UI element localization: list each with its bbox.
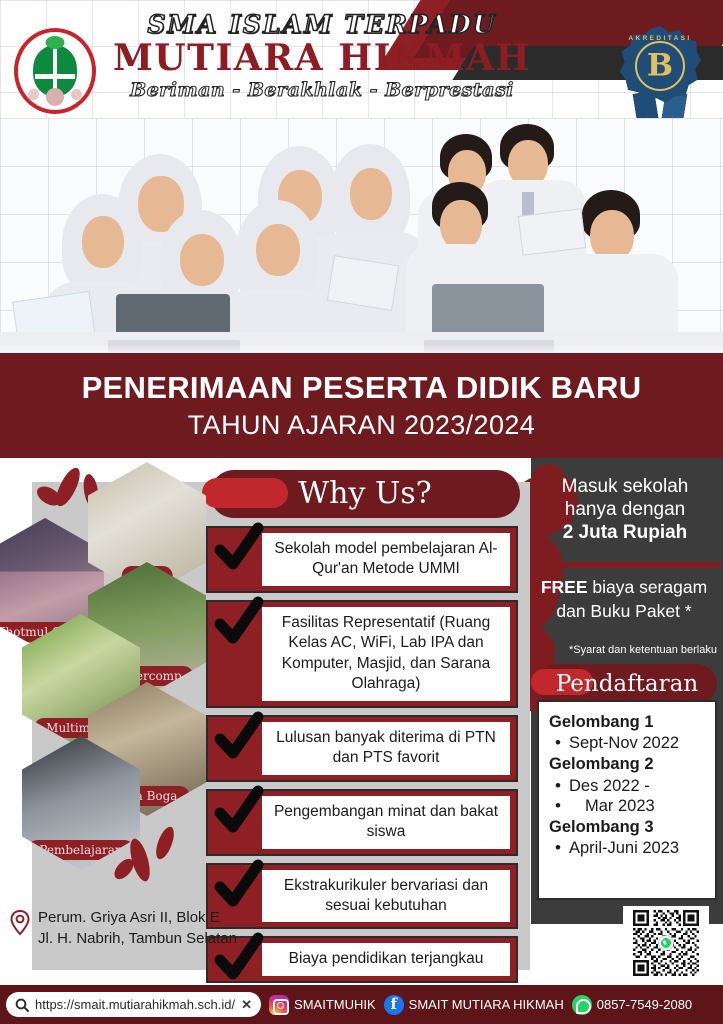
main-title-banner: PENERIMAAN PESERTA DIDIK BARU TAHUN AJAR…: [0, 353, 723, 458]
promo-free-line2: dan Buku Paket *: [533, 600, 715, 624]
registration-wave: Gelombang 2 Des 2022 - Mar 2023: [549, 754, 709, 817]
checkmark-icon: [208, 602, 262, 706]
website-url-text: https://smait.mutiarahikmah.sch.id/: [35, 997, 235, 1012]
school-type-line: SMA ISLAM TERPADU: [112, 10, 532, 39]
address-line-1: Perum. Griya Asri II, Blok E: [38, 908, 237, 929]
school-emblem-icon: [14, 28, 96, 114]
wave-heading: Gelombang 1: [549, 712, 709, 733]
wave-date: Sept-Nov 2022: [549, 733, 709, 754]
close-icon[interactable]: ✕: [241, 997, 252, 1013]
promo-free-block: FREE biaya seragam dan Buku Paket *: [533, 576, 715, 623]
instagram-handle: SMAITMUHIK: [294, 997, 376, 1012]
instagram-link[interactable]: SMAITMUHIK: [269, 995, 376, 1015]
list-item: Lulusan banyak diterima di PTN dan PTS f…: [206, 715, 518, 782]
registration-title: Pendaftaran: [537, 664, 717, 704]
students-group-illustration: [0, 118, 723, 358]
photo-gallery: Khotmul Qur'an BTQ Supercomp Multimedia …: [0, 470, 212, 900]
poster-body: Masuk sekolah hanya dengan 2 Juta Rupiah…: [0, 458, 723, 985]
why-us-header-pill: Why Us?: [210, 470, 520, 518]
hero-students-photo: [0, 118, 723, 358]
website-url-field[interactable]: https://smait.mutiarahikmah.sch.id/ ✕: [6, 992, 261, 1017]
school-title: MUTIARA HIKMAH: [112, 40, 532, 77]
wave-heading: Gelombang 2: [549, 754, 709, 775]
promo-fee-block: Masuk sekolah hanya dengan 2 Juta Rupiah: [535, 476, 715, 544]
list-item: Ekstrakurikuler bervariasi dan sesuai ke…: [206, 863, 518, 930]
facebook-icon: f: [384, 995, 404, 1015]
whatsapp-qr-code[interactable]: [623, 906, 709, 980]
registration-section: Pendaftaran Gelombang 1 Sept-Nov 2022 Ge…: [537, 664, 717, 900]
poster-header: SMA ISLAM TERPADU MUTIARA HIKMAH Beriman…: [0, 0, 723, 122]
list-item-label: Ekstrakurikuler bervariasi dan sesuai ke…: [262, 870, 510, 923]
address-line-2: Jl. H. Nabrih, Tambun Selatan: [38, 929, 237, 950]
whatsapp-number: 0857-7549-2080: [597, 997, 692, 1012]
gallery-label: Pembelajaran: [27, 840, 134, 860]
facebook-handle: SMAIT MUTIARA HIKMAH: [409, 997, 564, 1012]
promo-price: 2 Juta Rupiah: [535, 522, 715, 545]
footer-bar: https://smait.mutiarahikmah.sch.id/ ✕ SM…: [0, 985, 723, 1024]
list-item-label: Fasilitas Representatif (Ruang Kelas AC,…: [262, 607, 510, 701]
registration-wave: Gelombang 3 April-Juni 2023: [549, 817, 709, 859]
qr-code-icon: [627, 910, 705, 976]
list-item-label: Pengembangan minat dan bakat siswa: [262, 796, 510, 849]
list-item: Sekolah model pembelajaran Al-Qur'an Met…: [206, 526, 518, 593]
page-subtitle: TAHUN AJARAN 2023/2024: [0, 411, 723, 439]
school-tagline: Beriman - Berakhlak - Berprestasi: [112, 79, 532, 101]
poster-root: SMA ISLAM TERPADU MUTIARA HIKMAH Beriman…: [0, 0, 723, 1024]
page-title: PENERIMAAN PESERTA DIDIK BARU: [0, 353, 723, 405]
rosette-icon: AKREDITASI B: [619, 26, 701, 106]
wave-date-cont: Mar 2023: [549, 796, 709, 817]
promo-free-rest: biaya seragam: [588, 577, 708, 597]
whatsapp-link[interactable]: 0857-7549-2080: [572, 995, 692, 1015]
checkmark-icon: [208, 528, 262, 591]
wave-heading: Gelombang 3: [549, 817, 709, 838]
promo-line-1: Masuk sekolah: [535, 476, 715, 499]
list-item: Fasilitas Representatif (Ruang Kelas AC,…: [206, 600, 518, 708]
accreditation-badge: AKREDITASI B: [619, 26, 701, 122]
registration-header-pill: Pendaftaran: [537, 664, 717, 704]
list-item: Biaya pendidikan terjangkau: [206, 936, 518, 982]
list-item-label: Sekolah model pembelajaran Al-Qur'an Met…: [262, 533, 510, 586]
whatsapp-icon: [572, 995, 592, 1015]
list-item-label: Lulusan banyak diterima di PTN dan PTS f…: [262, 722, 510, 775]
registration-wave: Gelombang 1 Sept-Nov 2022: [549, 712, 709, 754]
accreditation-grade: B: [647, 51, 673, 82]
checkmark-icon: [208, 791, 262, 854]
school-name-block: SMA ISLAM TERPADU MUTIARA HIKMAH Beriman…: [112, 10, 532, 101]
list-item: Pengembangan minat dan bakat siswa: [206, 789, 518, 856]
why-us-title: Why Us?: [210, 470, 520, 518]
promo-free-label: FREE: [541, 577, 588, 597]
wave-date: April-Juni 2023: [549, 838, 709, 859]
location-pin-icon: [10, 908, 32, 949]
benefits-list: Sekolah model pembelajaran Al-Qur'an Met…: [206, 526, 518, 990]
registration-waves-box: Gelombang 1 Sept-Nov 2022 Gelombang 2 De…: [537, 700, 717, 900]
address-block: Perum. Griya Asri II, Blok E Jl. H. Nabr…: [10, 908, 250, 949]
instagram-icon: [269, 995, 289, 1015]
promo-divider: [525, 562, 721, 568]
facebook-link[interactable]: f SMAIT MUTIARA HIKMAH: [384, 995, 564, 1015]
checkmark-icon: [208, 717, 262, 780]
promo-terms-note: *Syarat dan ketentuan berlaku: [531, 644, 717, 656]
search-icon: [15, 998, 29, 1012]
list-item-label: Biaya pendidikan terjangkau: [262, 943, 510, 975]
promo-line-2: hanya dengan: [535, 499, 715, 522]
wave-date: Des 2022 -: [549, 776, 709, 797]
